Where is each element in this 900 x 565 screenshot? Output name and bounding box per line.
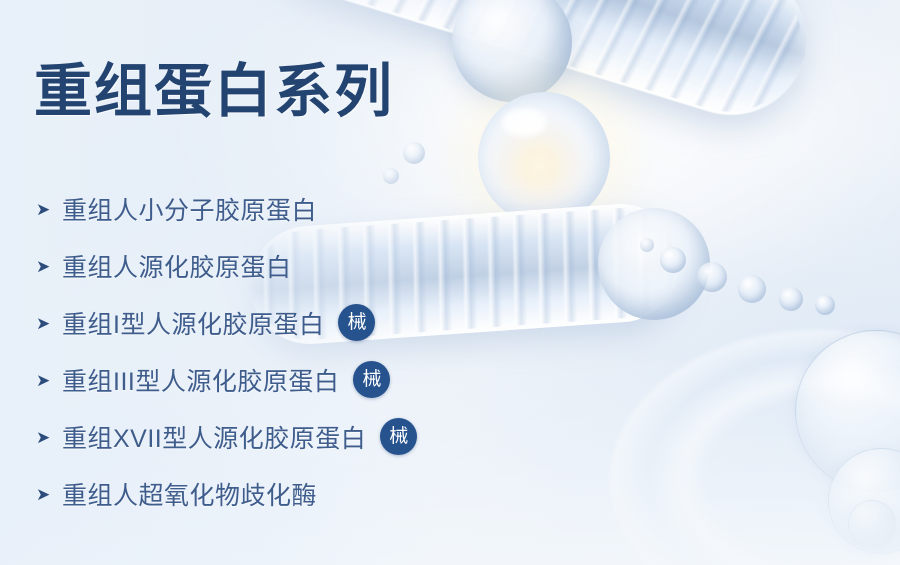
recombinant-protein-banner: 重组蛋白系列 ➤ 重组人小分子胶原蛋白 ➤ 重组人源化胶原蛋白 ➤ 重组I型人源…	[0, 0, 900, 565]
list-item-label: 重组III型人源化胶原蛋白	[62, 362, 339, 398]
arrow-bullet-icon: ➤	[36, 314, 62, 332]
page-title: 重组蛋白系列	[34, 44, 394, 128]
medical-device-badge: 械	[338, 304, 375, 341]
banner-content: 重组蛋白系列 ➤ 重组人小分子胶原蛋白 ➤ 重组人源化胶原蛋白 ➤ 重组I型人源…	[0, 0, 900, 565]
product-list: ➤ 重组人小分子胶原蛋白 ➤ 重组人源化胶原蛋白 ➤ 重组I型人源化胶原蛋白 械…	[36, 180, 536, 522]
list-item[interactable]: ➤ 重组III型人源化胶原蛋白 械	[36, 351, 536, 408]
list-item-label: 重组XVII型人源化胶原蛋白	[62, 419, 366, 455]
list-item-label: 重组人超氧化物歧化酶	[62, 476, 317, 512]
arrow-bullet-icon: ➤	[36, 428, 62, 446]
list-item[interactable]: ➤ 重组I型人源化胶原蛋白 械	[36, 294, 536, 351]
list-item[interactable]: ➤ 重组XVII型人源化胶原蛋白 械	[36, 408, 536, 465]
arrow-bullet-icon: ➤	[36, 257, 62, 275]
medical-device-badge: 械	[353, 361, 390, 398]
list-item-label: 重组人小分子胶原蛋白	[62, 191, 317, 227]
list-item[interactable]: ➤ 重组人超氧化物歧化酶	[36, 465, 536, 522]
list-item[interactable]: ➤ 重组人源化胶原蛋白	[36, 237, 536, 294]
arrow-bullet-icon: ➤	[36, 371, 62, 389]
arrow-bullet-icon: ➤	[36, 485, 62, 503]
list-item-label: 重组I型人源化胶原蛋白	[62, 305, 324, 341]
arrow-bullet-icon: ➤	[36, 200, 62, 218]
list-item[interactable]: ➤ 重组人小分子胶原蛋白	[36, 180, 536, 237]
medical-device-badge: 械	[380, 418, 417, 455]
list-item-label: 重组人源化胶原蛋白	[62, 248, 292, 284]
title-divider	[32, 151, 872, 153]
